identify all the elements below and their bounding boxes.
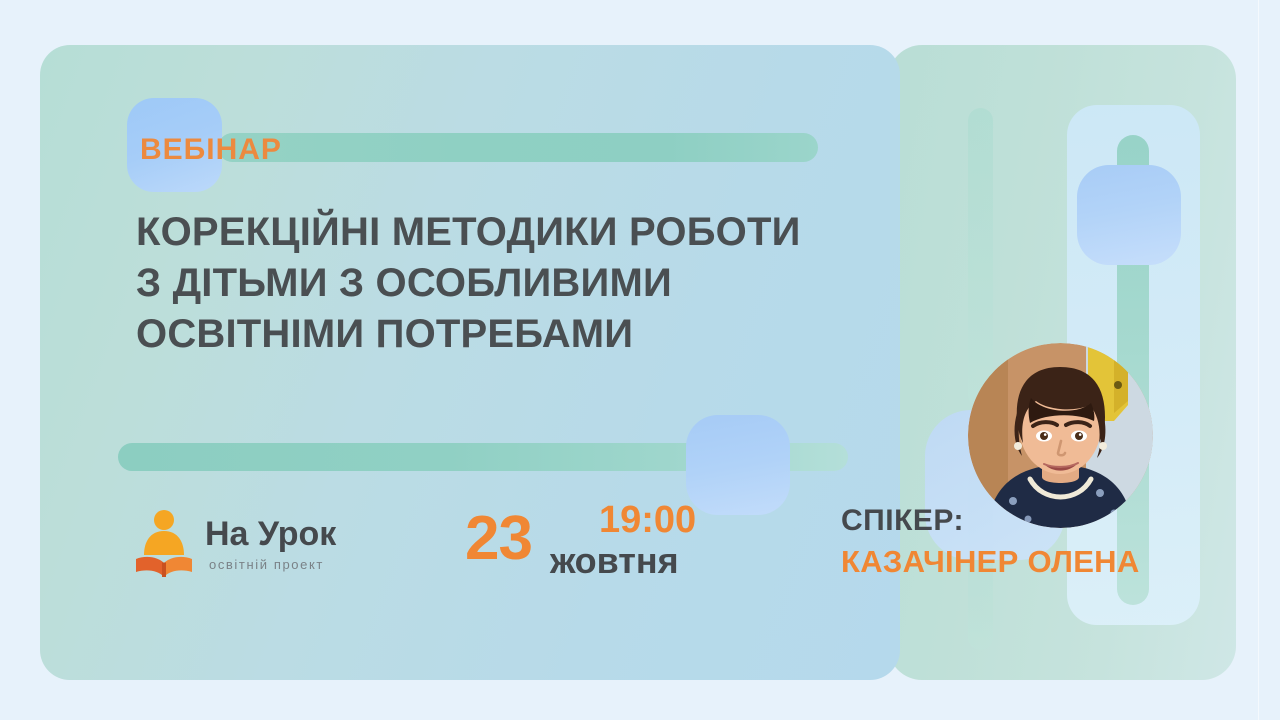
decor-teal-bar-upper [968,108,993,408]
title-line-2: З ДІТЬМИ З ОСОБЛИВИМИ [136,258,896,309]
speaker-avatar [968,343,1153,528]
event-month: жовтня [550,543,679,579]
brand-logo[interactable]: На Урок освітній проект [133,505,333,590]
person-reading-book-icon [133,507,195,579]
speaker-name: КАЗАЧІНЕР ОЛЕНА [841,546,1140,577]
title-line-3: ОСВІТНІМИ ПОТРЕБАМИ [136,309,896,360]
event-time: 19:00 [599,501,696,539]
page-title: КОРЕКЦІЙНІ МЕТОДИКИ РОБОТИ З ДІТЬМИ З ОС… [136,207,896,361]
background-seam [1258,0,1259,720]
slide-stage: ВЕБІНАР КОРЕКЦІЙНІ МЕТОДИКИ РОБОТИ З ДІТ… [0,0,1280,720]
event-day: 23 [465,508,532,570]
speaker-label: СПІКЕР: [841,506,964,536]
webinar-badge-label: ВЕБІНАР [140,135,440,165]
event-datetime: 19:00 23 жовтня [465,498,725,588]
decor-blue-square-right [1077,165,1181,265]
title-line-1: КОРЕКЦІЙНІ МЕТОДИКИ РОБОТИ [136,207,896,258]
logo-tagline: освітній проект [209,557,324,572]
logo-name: На Урок [205,517,336,551]
